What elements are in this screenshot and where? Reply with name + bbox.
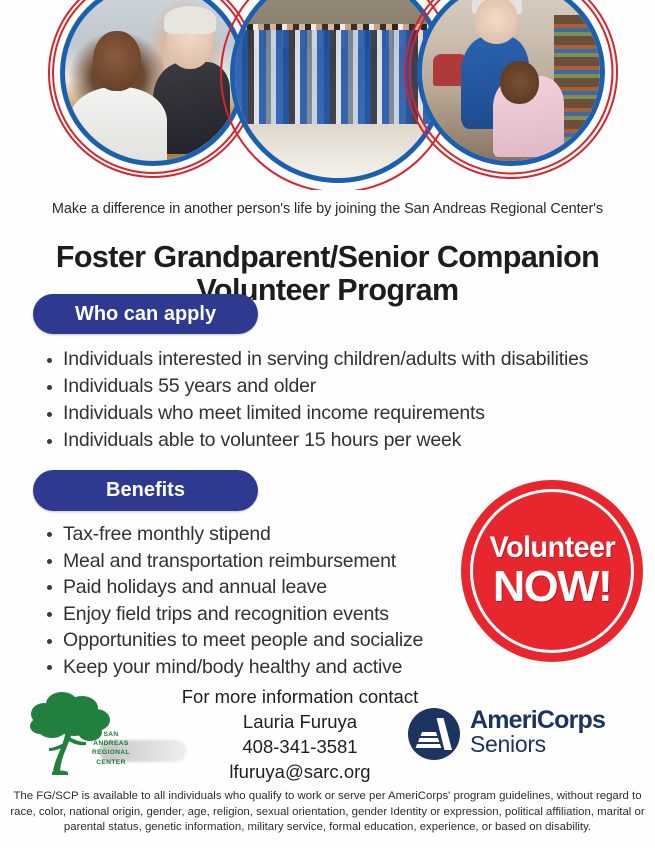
flyer-page: Make a difference in another person's li… bbox=[0, 0, 655, 848]
list-item: Individuals able to volunteer 15 hours p… bbox=[45, 427, 625, 454]
sarc-text-line-2: ANDREAS bbox=[78, 739, 144, 748]
photo-circle-3 bbox=[415, 0, 607, 168]
list-item: Tax-free monthly stipend bbox=[45, 521, 445, 548]
sarc-text-line-1: SAN bbox=[78, 730, 144, 739]
sarc-logo-text: SAN ANDREAS REGIONAL CENTER bbox=[78, 730, 144, 767]
photo-senior-with-child bbox=[417, 0, 605, 166]
benefits-list: Tax-free monthly stipend Meal and transp… bbox=[45, 521, 445, 681]
contact-email[interactable]: lfuruya@sarc.org bbox=[170, 759, 430, 784]
contact-heading: For more information contact bbox=[170, 684, 430, 709]
americorps-word-2: Seniors bbox=[470, 732, 605, 756]
sarc-text-line-3: REGIONAL bbox=[78, 748, 144, 757]
section-pill-who-can-apply: Who can apply bbox=[33, 294, 258, 334]
volunteer-now-badge: Volunteer NOW! bbox=[461, 480, 643, 662]
americorps-seniors-logo: AmeriCorps Seniors bbox=[408, 706, 636, 764]
americorps-a-icon bbox=[408, 708, 460, 760]
list-item: Opportunities to meet people and sociali… bbox=[45, 627, 445, 654]
photo-banner bbox=[0, 0, 655, 190]
disclaimer-text: The FG/SCP is available to all individua… bbox=[8, 789, 647, 836]
badge-line-1: Volunteer bbox=[489, 533, 615, 563]
list-item: Enjoy field trips and recognition events bbox=[45, 601, 445, 628]
americorps-a-glyph bbox=[408, 708, 460, 760]
photo-child-and-senior-volunteer bbox=[60, 0, 246, 166]
americorps-wordmark: AmeriCorps Seniors bbox=[470, 708, 605, 756]
contact-block: For more information contact Lauria Furu… bbox=[170, 684, 430, 784]
contact-phone[interactable]: 408-341-3581 bbox=[170, 734, 430, 759]
list-item: Individuals interested in serving childr… bbox=[45, 346, 625, 373]
badge-line-2: NOW! bbox=[493, 565, 612, 609]
americorps-word-1: AmeriCorps bbox=[470, 708, 605, 732]
list-item: Keep your mind/body healthy and active bbox=[45, 654, 445, 681]
badge-text: Volunteer NOW! bbox=[461, 480, 643, 662]
sarc-text-line-4: CENTER bbox=[78, 758, 144, 767]
list-item: Individuals 55 years and older bbox=[45, 373, 625, 400]
san-andreas-regional-center-logo: SAN ANDREAS REGIONAL CENTER bbox=[22, 690, 162, 778]
list-item: Meal and transportation reimbursement bbox=[45, 548, 445, 575]
who-can-apply-list: Individuals interested in serving childr… bbox=[45, 346, 625, 454]
section-pill-benefits: Benefits bbox=[33, 470, 258, 511]
headline-line-1: Foster Grandparent/Senior Companion bbox=[56, 240, 599, 274]
contact-name: Lauria Furuya bbox=[170, 709, 430, 734]
tagline: Make a difference in another person's li… bbox=[0, 201, 655, 217]
list-item: Individuals who meet limited income requ… bbox=[45, 400, 625, 427]
list-item: Paid holidays and annual leave bbox=[45, 574, 445, 601]
